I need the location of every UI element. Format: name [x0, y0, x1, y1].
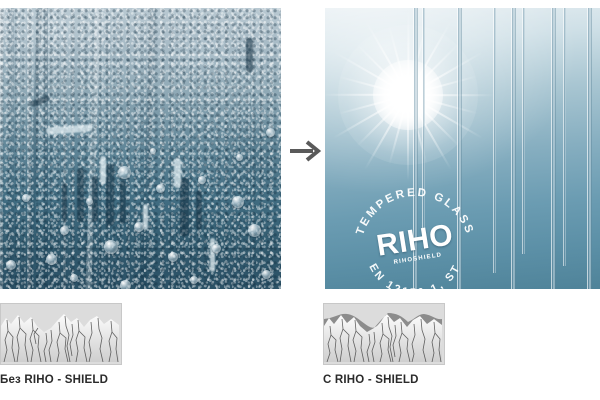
water-droplet: [236, 154, 243, 161]
after-caption: С RIHO - SHIELD: [323, 374, 419, 386]
water-droplet: [60, 226, 69, 235]
water-rivulet: [587, 8, 592, 289]
before-photo-smear: [246, 38, 253, 72]
water-droplet: [198, 176, 206, 184]
water-droplet: [248, 224, 261, 237]
before-diagram: [0, 303, 122, 365]
water-droplet: [86, 198, 93, 205]
water-droplet: [156, 184, 165, 193]
water-droplet: [134, 222, 144, 232]
water-droplet: [232, 196, 244, 208]
arrow-right-icon: [288, 138, 322, 164]
before-photo-highlight: [174, 158, 181, 188]
water-rivulet: [563, 8, 566, 266]
water-droplet: [22, 194, 30, 202]
water-droplet: [262, 270, 271, 279]
water-rivulet: [551, 8, 556, 289]
water-droplet: [120, 280, 131, 289]
water-droplet: [150, 148, 156, 154]
water-droplet: [6, 260, 16, 270]
before-photo-smear: [77, 168, 84, 222]
before-photo-smear: [92, 176, 98, 222]
water-droplet: [104, 240, 118, 254]
riho-tempered-glass-stamp: TEMPERED GLASS EN 12150-1, ST RIHO RIHOS…: [353, 176, 477, 289]
before-caption: Без RIHO - SHIELD: [0, 374, 108, 386]
after-photo: TEMPERED GLASS EN 12150-1, ST RIHO RIHOS…: [325, 8, 600, 289]
before-photo-smear: [196, 190, 202, 230]
after-diagram: [323, 303, 445, 365]
before-photo: [0, 8, 281, 289]
before-photo-smear: [62, 183, 67, 221]
water-droplet: [46, 254, 57, 265]
before-photo-highlight: [210, 238, 215, 272]
before-photo-dark-speckle: [0, 8, 281, 289]
water-droplet: [266, 128, 275, 137]
water-rivulet: [511, 8, 516, 289]
before-photo-smear: [180, 178, 189, 236]
water-rivulet: [522, 8, 525, 254]
water-droplet: [190, 276, 198, 284]
water-droplet: [168, 252, 178, 262]
water-droplet: [118, 166, 131, 179]
before-photo-smear: [106, 164, 114, 226]
sun-core: [373, 60, 443, 130]
comparison-figure: TEMPERED GLASS EN 12150-1, ST RIHO RIHOS…: [0, 0, 600, 400]
before-photo-highlight: [100, 156, 106, 184]
water-rivulet: [493, 8, 496, 273]
before-photo-smear: [120, 180, 126, 224]
water-droplet: [212, 244, 221, 253]
water-droplet: [70, 274, 78, 282]
